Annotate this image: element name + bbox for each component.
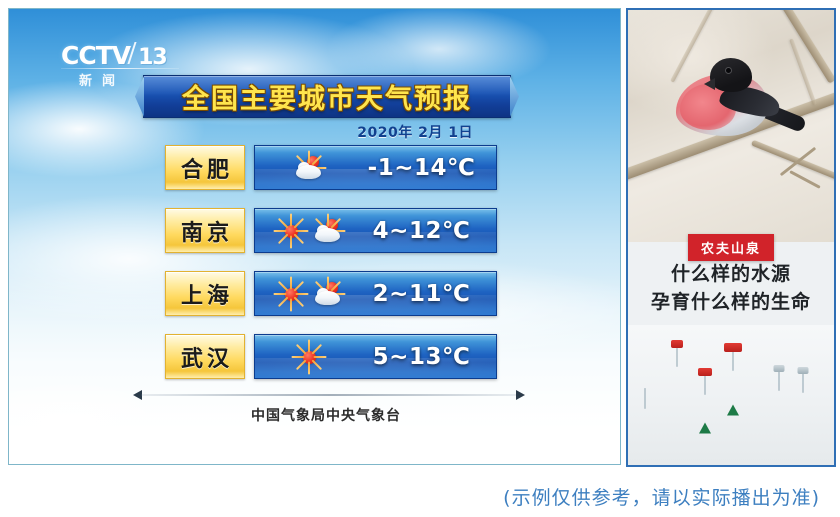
cloud-body bbox=[315, 228, 340, 242]
product-bottle bbox=[704, 375, 729, 451]
temperature-range: 5~13℃ bbox=[363, 344, 496, 370]
city-chip: 武汉 bbox=[165, 334, 245, 379]
sun-ray bbox=[296, 343, 307, 354]
brand-badge: 农夫山泉 bbox=[688, 234, 774, 261]
slogan-line-1: 什么样的水源 bbox=[628, 260, 834, 288]
sun-ray bbox=[290, 213, 292, 226]
forecast-info-bar: 5~13℃ bbox=[254, 334, 497, 379]
bottle-body bbox=[802, 372, 804, 393]
sun-ray bbox=[277, 280, 288, 291]
weather-icon-group bbox=[255, 146, 363, 189]
rule-line bbox=[141, 394, 517, 396]
bird-eye bbox=[726, 68, 731, 73]
sunny-icon bbox=[294, 343, 324, 371]
sun-ray bbox=[314, 356, 327, 358]
cctv-logo-name: CCTV bbox=[61, 43, 130, 68]
screenshot-root: CCTV 13 新闻 全国主要城市天气预报 2020年 2月 1日 合肥 bbox=[0, 0, 840, 517]
source-attribution: 中国气象局中央气象台 bbox=[143, 405, 509, 425]
sun-ray bbox=[277, 233, 288, 244]
product-bottle bbox=[732, 351, 774, 451]
sun-ray bbox=[293, 217, 304, 228]
city-name: 合肥 bbox=[177, 152, 233, 184]
partly-cloudy-icon bbox=[313, 217, 343, 245]
city-name: 南京 bbox=[177, 215, 233, 247]
weather-icon-group bbox=[255, 335, 363, 378]
sun-ray bbox=[273, 230, 286, 232]
forecast-row: 上海 bbox=[165, 271, 497, 316]
sun-ray bbox=[292, 356, 305, 358]
sun-ray bbox=[296, 359, 307, 370]
weather-icon-group bbox=[255, 209, 363, 252]
weather-broadcast-panel: CCTV 13 新闻 全国主要城市天气预报 2020年 2月 1日 合肥 bbox=[8, 8, 621, 465]
sun-ray bbox=[311, 343, 322, 354]
sun-ray bbox=[327, 276, 329, 289]
forecast-date-row: 2020年 2月 1日 bbox=[143, 122, 509, 142]
forecast-info-bar: -1~14℃ bbox=[254, 145, 497, 190]
cctv-logo-mark: CCTV 13 bbox=[61, 42, 181, 69]
sun-ray bbox=[290, 276, 292, 289]
page-title: 全国主要城市天气预报 bbox=[182, 77, 472, 116]
city-name: 武汉 bbox=[177, 341, 233, 373]
sun-ray bbox=[327, 213, 329, 226]
right-arrow-icon bbox=[516, 390, 525, 400]
city-chip: 南京 bbox=[165, 208, 245, 253]
bullfinch-photo bbox=[628, 10, 834, 242]
bottle-body bbox=[778, 370, 780, 391]
sun-ray bbox=[308, 361, 310, 374]
sun-ray bbox=[311, 359, 322, 370]
bottle-body bbox=[676, 346, 678, 367]
product-bottle bbox=[802, 373, 822, 451]
sun-ray bbox=[293, 296, 304, 307]
product-lineup bbox=[628, 325, 834, 465]
slogan-line-2: 孕育什么样的生命 bbox=[628, 288, 834, 316]
product-bottle bbox=[644, 389, 670, 451]
bottle-body bbox=[644, 388, 646, 409]
bird-beak bbox=[704, 78, 715, 90]
bottle-cap bbox=[724, 343, 742, 352]
bird-head bbox=[710, 58, 752, 92]
twig-icon bbox=[789, 170, 820, 189]
sun-ray bbox=[308, 339, 310, 352]
sun-ray bbox=[290, 298, 292, 311]
sun-ray bbox=[308, 150, 310, 163]
brand-name: 农夫山泉 bbox=[701, 242, 761, 257]
forecast-row: 武汉 bbox=[165, 334, 497, 379]
disclaimer-note: (示例仅供参考，请以实际播出为准) bbox=[503, 483, 820, 510]
forecast-row: 南京 bbox=[165, 208, 497, 253]
sun-ray bbox=[293, 233, 304, 244]
forecast-info-bar: 2~11℃ bbox=[254, 271, 497, 316]
forecast-date: 2020年 2月 1日 bbox=[357, 122, 473, 142]
weather-icon-group bbox=[255, 272, 363, 315]
advertisement-panel[interactable]: 农夫山泉 什么样的水源 孕育什么样的生命 bbox=[626, 8, 836, 467]
bottle-cap bbox=[671, 340, 683, 348]
mountain-logo-icon bbox=[727, 405, 739, 416]
forecast-info-bar: 4~12℃ bbox=[254, 208, 497, 253]
divider-rule bbox=[133, 390, 525, 400]
sun-ray bbox=[293, 280, 304, 291]
city-name: 上海 bbox=[177, 278, 233, 310]
temperature-range: -1~14℃ bbox=[363, 155, 496, 181]
sun-ray bbox=[295, 293, 308, 295]
city-chip: 上海 bbox=[165, 271, 245, 316]
sun-ray bbox=[277, 296, 288, 307]
product-bottle bbox=[778, 371, 798, 451]
sun-ray bbox=[290, 235, 292, 248]
bottle-cap bbox=[798, 367, 809, 374]
bottle-body bbox=[704, 374, 706, 395]
bottle-cap bbox=[698, 368, 712, 376]
sun-ray bbox=[295, 230, 308, 232]
product-bottle bbox=[676, 347, 698, 451]
bullfinch-icon bbox=[666, 52, 794, 164]
cctv-logo-divider bbox=[61, 68, 179, 69]
sun-ray bbox=[277, 217, 288, 228]
sun-ray bbox=[273, 293, 286, 295]
bottle-cap bbox=[774, 365, 785, 372]
city-chip: 合肥 bbox=[165, 145, 245, 190]
bottle-body bbox=[732, 350, 734, 371]
cctv-logo-number: 13 bbox=[138, 47, 167, 69]
sunny-icon bbox=[276, 280, 306, 308]
forecast-title-banner: 全国主要城市天气预报 bbox=[143, 75, 511, 118]
forecast-row: 合肥 -1~14℃ bbox=[165, 145, 497, 190]
sunny-icon bbox=[276, 217, 306, 245]
mountain-logo-icon bbox=[699, 423, 711, 434]
ad-slogan: 什么样的水源 孕育什么样的生命 bbox=[628, 260, 834, 316]
partly-cloudy-icon bbox=[313, 280, 343, 308]
temperature-range: 2~11℃ bbox=[363, 281, 496, 307]
cloud-body bbox=[296, 165, 321, 179]
cloud-body bbox=[315, 291, 340, 305]
partly-cloudy-icon bbox=[294, 154, 324, 182]
temperature-range: 4~12℃ bbox=[363, 218, 496, 244]
forecast-list: 合肥 -1~14℃ bbox=[165, 145, 497, 397]
banner-right-cap-icon bbox=[510, 76, 519, 117]
